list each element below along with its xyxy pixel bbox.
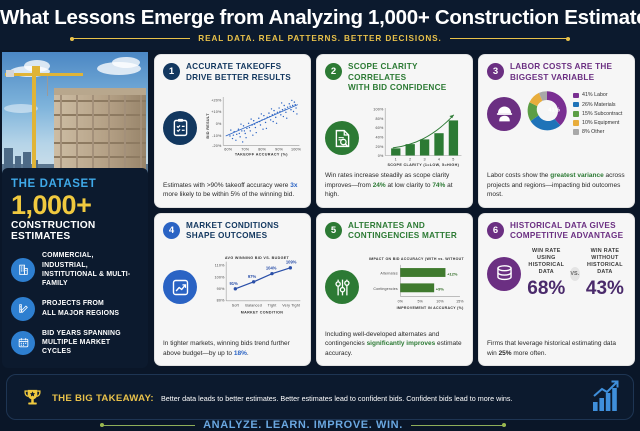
svg-text:41%: 41%	[548, 108, 561, 114]
svg-text:Soft: Soft	[232, 303, 239, 307]
caption-post: more often.	[512, 350, 547, 357]
win-rate-without-label: WIN RATE WITHOUT HISTORICAL DATA	[584, 248, 626, 276]
card-title: HISTORICAL DATA GIVES COMPETITIVE ADVANT…	[510, 221, 623, 242]
svg-text:40%: 40%	[376, 136, 384, 140]
svg-text:0%: 0%	[378, 154, 384, 158]
svg-text:Contingencies: Contingencies	[373, 287, 398, 291]
card-caption: Labor costs show the greatest variance a…	[487, 171, 626, 199]
card-body: 100% 80% 60% 40% 20% 0%	[325, 99, 464, 178]
svg-text:AVG WINNING BID VS. BUDGET: AVG WINNING BID VS. BUDGET	[225, 256, 290, 260]
svg-text:80%: 80%	[217, 298, 225, 302]
card-header: 5 ALTERNATES AND CONTINGENCIES MATTER	[325, 221, 464, 242]
card5-hbar-chart: IMPACT ON BID ACCURACY (WITH vs. WITHOUT…	[364, 247, 464, 328]
bar-chart-growth-icon	[591, 380, 621, 417]
card-header: 2 SCOPE CLARITY CORRELATES WITH BID CONF…	[325, 62, 464, 94]
card3-donut-chart: 41%	[524, 88, 570, 139]
dataset-facts-list: COMMERCIAL, INDUSTRIAL, INSTITUTIONAL & …	[11, 251, 139, 356]
svg-text:70%: 70%	[241, 148, 249, 152]
bar-label-2: +9%	[436, 286, 445, 291]
point-label-4: 109%	[286, 260, 297, 265]
legend-item: 10% Equipment	[573, 120, 622, 126]
rule-right	[450, 38, 570, 39]
svg-text:60%: 60%	[224, 148, 232, 152]
card-title-line2: WITH BID CONFIDENCE	[348, 83, 446, 92]
legend-label: 26% Materials	[582, 102, 616, 108]
card-title-line1: ACCURATE TAKEOFFS	[186, 62, 281, 71]
svg-text:90%: 90%	[275, 148, 283, 152]
card-labor-costs[interactable]: 3 LABOR COSTS ARE THE BIGGEST VARIABLE	[478, 54, 635, 208]
label-line1: WIN RATE USING	[532, 248, 561, 261]
svg-text:5: 5	[452, 158, 454, 162]
list-item-label: BID YEARS SPANNING MULTIPLE MARKET CYCLE…	[42, 329, 139, 357]
page-subtitle: REAL DATA. REAL PATTERNS. BETTER DECISIO…	[198, 34, 441, 43]
svg-text:Alternates: Alternates	[380, 271, 398, 275]
card-title: ACCURATE TAKEOFFS DRIVE BETTER RESULTS	[186, 62, 291, 83]
card-body: +20% +10% 0% -10% -20% BID RESULT	[163, 88, 302, 167]
sliders-icon	[325, 270, 359, 304]
svg-text:BID RESULT: BID RESULT	[206, 113, 210, 139]
svg-text:IMPROVEMENT IN ACCURACY (%): IMPROVEMENT IN ACCURACY (%)	[397, 306, 464, 310]
card-number-badge: 1	[163, 63, 180, 80]
dataset-count-label: CONSTRUCTION ESTIMATES	[11, 220, 139, 242]
legend-label: 8% Other	[582, 129, 604, 135]
list-item-line1: BID YEARS SPANNING	[42, 330, 121, 337]
card-header: 4 MARKET CONDITIONS SHAPE OUTCOMES	[163, 221, 302, 242]
card2-bar-chart: 100% 80% 60% 40% 20% 0%	[364, 99, 464, 178]
card-caption: Estimates with >90% takeoff accuracy wer…	[163, 181, 302, 200]
svg-text:Tight: Tight	[268, 303, 277, 307]
svg-text:15%: 15%	[456, 300, 464, 304]
legend-swatch	[573, 102, 579, 108]
caption-pre: Labor costs show the	[487, 172, 550, 179]
svg-text:IMPACT ON BID ACCURACY (WITH v: IMPACT ON BID ACCURACY (WITH vs. WITHOUT…	[369, 257, 464, 261]
legend-swatch	[573, 129, 579, 135]
win-rate-comparison: WIN RATE USING HISTORICAL DATA 68% VS. W…	[527, 248, 626, 300]
card-title-line1: HISTORICAL DATA GIVES	[510, 221, 616, 230]
takeaway-text: Better data leads to better estimates. B…	[161, 394, 513, 403]
svg-text:10%: 10%	[436, 300, 444, 304]
svg-text:4: 4	[438, 158, 440, 162]
calendar-icon	[11, 331, 35, 355]
label-line1: WIN RATE WITHOUT	[591, 248, 620, 261]
page-title: What Lessons Emerge from Analyzing 1,000…	[0, 0, 640, 30]
card-number-badge: 2	[325, 63, 342, 80]
card-title: MARKET CONDITIONS SHAPE OUTCOMES	[186, 221, 279, 242]
card-caption: Firms that leverage historical estimatin…	[487, 339, 626, 358]
card-title-line1: LABOR COSTS ARE THE	[510, 62, 612, 71]
list-item-label: COMMERCIAL, INDUSTRIAL, INSTITUTIONAL & …	[42, 251, 139, 288]
svg-text:+20%: +20%	[211, 99, 222, 103]
svg-text:80%: 80%	[258, 148, 266, 152]
svg-text:SCOPE CLARITY (1=LOW, 5=HIGH): SCOPE CLARITY (1=LOW, 5=HIGH)	[387, 163, 459, 167]
card-caption: In tighter markets, winning bids trend f…	[163, 339, 302, 358]
win-rate-without-value: 43%	[584, 278, 626, 300]
card-title-line2: COMPETITIVE ADVANTAGE	[510, 231, 623, 240]
dataset-panel: THE DATASET 1,000+ CONSTRUCTION ESTIMATE…	[2, 168, 148, 368]
card-historical-data[interactable]: 6 HISTORICAL DATA GIVES COMPETITIVE ADVA…	[478, 213, 635, 367]
legend-swatch	[573, 111, 579, 117]
svg-text:110%: 110%	[215, 263, 225, 267]
dataset-kicker: THE DATASET	[11, 178, 139, 190]
card-title-line1: MARKET CONDITIONS	[186, 221, 279, 230]
win-rate-with-label: WIN RATE USING HISTORICAL DATA	[527, 248, 566, 276]
card-body: 41% 41% Labor 26% Materials 15% Subcontr…	[487, 88, 626, 139]
card-caption: Win rates increase steadily as scope cla…	[325, 171, 464, 199]
list-item-line2: INSTITUTIONAL & MULTI-FAMILY	[42, 271, 130, 287]
card-alternates-contingencies[interactable]: 5 ALTERNATES AND CONTINGENCIES MATTER IM…	[316, 213, 473, 367]
legend-label: 10% Equipment	[582, 120, 619, 126]
dataset-count: 1,000+	[11, 191, 139, 219]
slogan-text: ANALYZE. LEARN. IMPROVE. WIN.	[203, 419, 403, 431]
win-rate-without-historical: WIN RATE WITHOUT HISTORICAL DATA 43%	[584, 248, 626, 300]
card-title-line2: BIGGEST VARIABLE	[510, 73, 594, 82]
clipboard-checklist-icon	[163, 111, 197, 145]
database-icon	[487, 257, 521, 291]
svg-text:0%: 0%	[398, 300, 404, 304]
caption-highlight-2: 74%	[432, 182, 445, 189]
card-number-badge: 3	[487, 63, 504, 80]
insight-card-grid: 1 ACCURATE TAKEOFFS DRIVE BETTER RESULTS…	[152, 50, 640, 370]
trophy-icon	[19, 387, 45, 410]
card-title: LABOR COSTS ARE THE BIGGEST VARIABLE	[510, 62, 612, 83]
card-title-line2: CONTINGENCIES MATTER	[348, 231, 457, 240]
svg-text:+10%: +10%	[211, 110, 222, 114]
caption-pre: In tighter markets, winning bids trend f…	[163, 340, 290, 356]
caption-highlight: significantly improves	[367, 340, 436, 347]
list-item-line2: ALL MAJOR REGIONS	[42, 310, 119, 317]
svg-text:60%: 60%	[376, 126, 384, 130]
legend-item: 8% Other	[573, 129, 622, 135]
hardhat-worker-icon	[487, 97, 521, 131]
svg-text:Balanced: Balanced	[245, 303, 262, 307]
card-number-badge: 4	[163, 222, 180, 239]
svg-text:MARKET CONDITION: MARKET CONDITION	[241, 310, 284, 314]
list-item: COMMERCIAL, INDUSTRIAL, INSTITUTIONAL & …	[11, 251, 139, 288]
list-item-line2: MULTIPLE MARKET CYCLES	[42, 339, 110, 355]
caption-highlight: 24%	[373, 182, 386, 189]
document-magnifier-icon	[325, 121, 359, 155]
card-header: 1 ACCURATE TAKEOFFS DRIVE BETTER RESULTS	[163, 62, 302, 83]
caption-pre: Estimates with >90% takeoff accuracy wer…	[163, 182, 290, 189]
list-item: BID YEARS SPANNING MULTIPLE MARKET CYCLE…	[11, 329, 139, 357]
caption-highlight: 18%	[234, 350, 247, 357]
card-title-line2: SHAPE OUTCOMES	[186, 231, 267, 240]
caption-highlight: 3x	[290, 182, 297, 189]
legend-label: 15% Subcontract	[582, 111, 622, 117]
card-market-conditions[interactable]: 4 MARKET CONDITIONS SHAPE OUTCOMES AVG W…	[154, 213, 311, 367]
legend-swatch	[573, 93, 579, 99]
caption-highlight: greatest variance	[550, 172, 603, 179]
takeaway-key: THE BIG TAKEAWAY:	[52, 393, 154, 404]
legend-item: 26% Materials	[573, 102, 622, 108]
card4-line-chart: AVG WINNING BID VS. BUDGET 110% 100% 90%…	[202, 247, 302, 328]
card-accurate-takeoffs[interactable]: 1 ACCURATE TAKEOFFS DRIVE BETTER RESULTS…	[154, 54, 311, 208]
header-subtitle-row: REAL DATA. REAL PATTERNS. BETTER DECISIO…	[0, 34, 640, 43]
win-rate-with-historical: WIN RATE USING HISTORICAL DATA 68%	[527, 248, 566, 300]
svg-text:3: 3	[423, 158, 425, 162]
caption-mid: at low clarity to	[386, 182, 433, 189]
card-body: IMPACT ON BID ACCURACY (WITH vs. WITHOUT…	[325, 247, 464, 328]
svg-text:100%: 100%	[214, 275, 225, 279]
label-line2: HISTORICAL DATA	[587, 262, 623, 275]
legend-item: 15% Subcontract	[573, 111, 622, 117]
slogan-rule-right	[411, 425, 506, 426]
svg-text:100%: 100%	[291, 148, 302, 152]
card-title: ALTERNATES AND CONTINGENCIES MATTER	[348, 221, 457, 242]
svg-text:80%: 80%	[376, 117, 384, 121]
sidebar: THE DATASET 1,000+ CONSTRUCTION ESTIMATE…	[0, 50, 150, 370]
list-item-label: PROJECTS FROM ALL MAJOR REGIONS	[42, 299, 119, 318]
card-title-line1: ALTERNATES AND	[348, 221, 425, 230]
list-item-line1: COMMERCIAL, INDUSTRIAL,	[42, 252, 94, 268]
donut-legend: 41% Labor 26% Materials 15% Subcontract …	[573, 92, 622, 135]
takeaway-row: THE BIG TAKEAWAY: Better data leads to b…	[19, 380, 621, 417]
rule-left	[70, 38, 190, 39]
card-caption: Including well-developed alternates and …	[325, 330, 464, 358]
svg-text:90%: 90%	[217, 287, 225, 291]
card-number-badge: 6	[487, 222, 504, 239]
caption-highlight: 25%	[499, 350, 512, 357]
label-line2: HISTORICAL DATA	[528, 262, 564, 275]
list-item: PROJECTS FROM ALL MAJOR REGIONS	[11, 297, 139, 321]
card1-scatter-chart: +20% +10% 0% -10% -20% BID RESULT	[202, 88, 302, 167]
svg-text:-20%: -20%	[212, 144, 222, 148]
svg-text:0%: 0%	[216, 122, 222, 126]
point-label-1: 91%	[230, 281, 239, 286]
svg-text:Very Tight: Very Tight	[282, 303, 300, 307]
legend-item: 41% Labor	[573, 92, 622, 98]
blueprint-ruler-icon	[11, 297, 35, 321]
card-title-line1: SCOPE CLARITY CORRELATES	[348, 62, 418, 82]
card-number-badge: 5	[325, 222, 342, 239]
svg-text:100%: 100%	[373, 108, 384, 112]
svg-text:-10%: -10%	[212, 134, 222, 138]
list-item-line1: PROJECTS FROM	[42, 300, 104, 307]
card-title-line2: DRIVE BETTER RESULTS	[186, 73, 291, 82]
card-scope-clarity[interactable]: 2 SCOPE CLARITY CORRELATES WITH BID CONF…	[316, 54, 473, 208]
bar-label-1: +12%	[447, 271, 458, 276]
vs-badge: VS.	[570, 267, 580, 281]
construction-site-photo	[2, 52, 148, 174]
card-title: SCOPE CLARITY CORRELATES WITH BID CONFID…	[348, 62, 464, 94]
card-body: AVG WINNING BID VS. BUDGET 110% 100% 90%…	[163, 247, 302, 328]
legend-label: 41% Labor	[582, 92, 608, 98]
big-takeaway-banner: THE BIG TAKEAWAY: Better data leads to b…	[6, 374, 634, 420]
page-header: What Lessons Emerge from Analyzing 1,000…	[0, 0, 640, 50]
svg-text:2: 2	[409, 158, 411, 162]
svg-text:20%: 20%	[376, 145, 384, 149]
point-label-3: 104%	[266, 265, 277, 270]
point-label-2: 97%	[248, 274, 257, 279]
legend-swatch	[573, 120, 579, 126]
slogan-rule-left	[100, 425, 195, 426]
svg-text:1: 1	[395, 158, 397, 162]
trend-chart-icon	[163, 270, 197, 304]
card-header: 3 LABOR COSTS ARE THE BIGGEST VARIABLE	[487, 62, 626, 83]
slogan-row: ANALYZE. LEARN. IMPROVE. WIN.	[19, 419, 621, 431]
svg-text:5%: 5%	[417, 300, 423, 304]
caption-post: .	[247, 350, 249, 357]
card-header: 6 HISTORICAL DATA GIVES COMPETITIVE ADVA…	[487, 221, 626, 242]
svg-text:TAKEOFF ACCURACY (%): TAKEOFF ACCURACY (%)	[235, 153, 288, 157]
win-rate-with-value: 68%	[527, 278, 566, 300]
building-icon	[11, 258, 35, 282]
card-body: WIN RATE USING HISTORICAL DATA 68% VS. W…	[487, 248, 626, 300]
caption-post: more likely to be within 5% of the winni…	[163, 191, 294, 198]
